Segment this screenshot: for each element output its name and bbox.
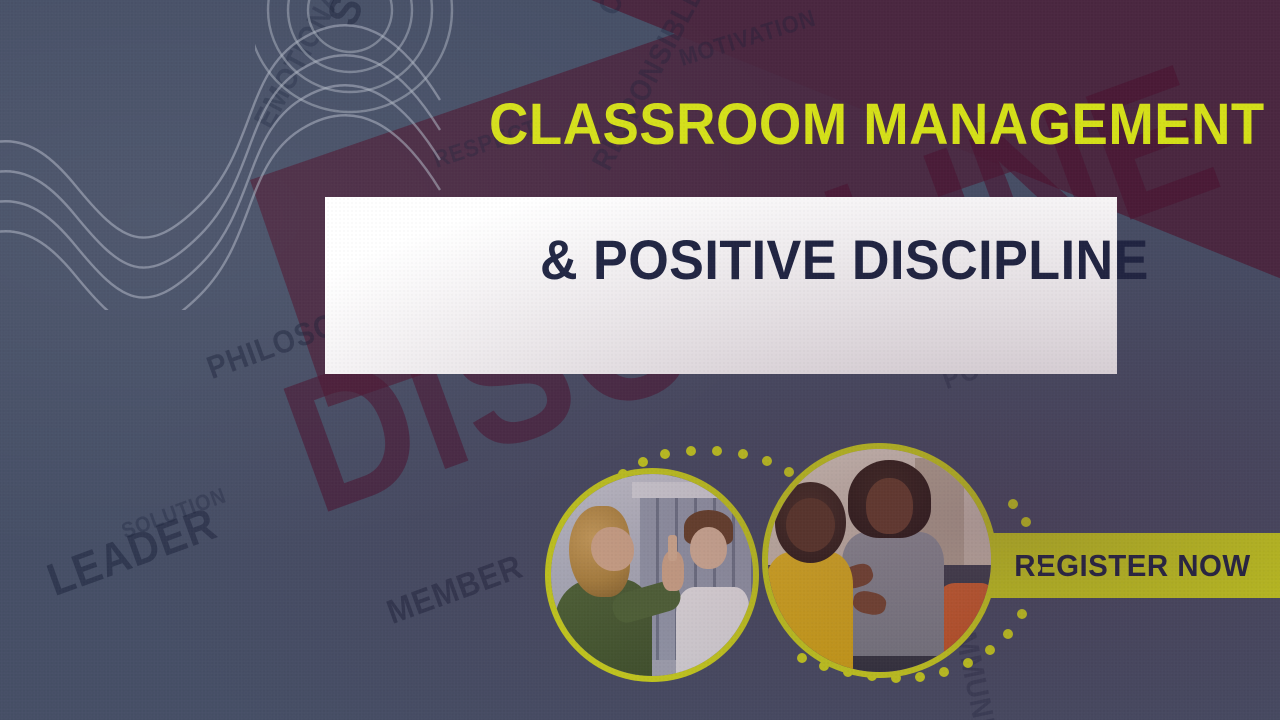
photo-teacher-student-lockers	[545, 468, 759, 682]
banner-title: CLASSROOM MANAGEMENT	[489, 96, 1265, 154]
banner-subtitle: & POSITIVE DISCIPLINE	[540, 232, 1149, 288]
background-word: MEMBER	[382, 548, 528, 633]
promo-banner: EMOTIONALSUSTAINABLECOMMITMENTMOTIVATION…	[0, 0, 1280, 720]
background-word: LEADER	[40, 496, 223, 607]
photo-parent-child-conversation	[762, 443, 997, 678]
